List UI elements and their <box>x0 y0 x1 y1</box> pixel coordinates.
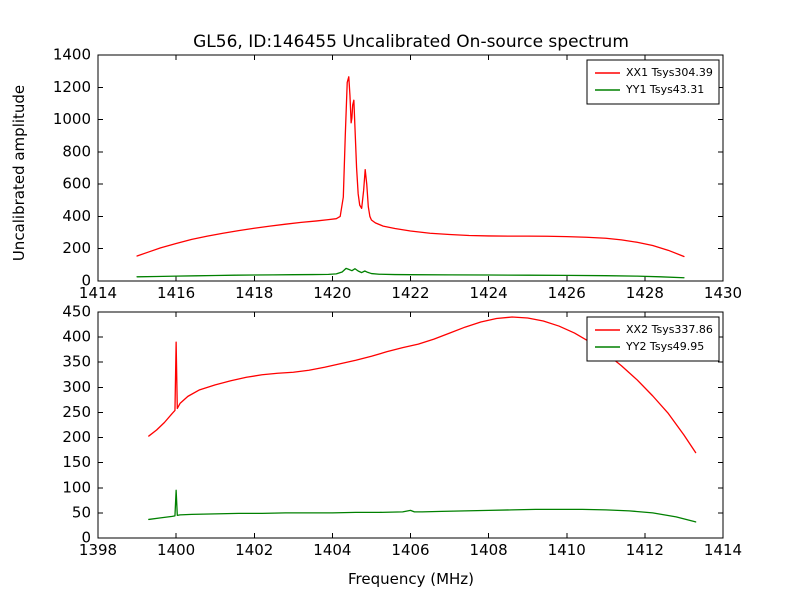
y-tick-label: 100 <box>62 478 91 496</box>
y-tick-label: 400 <box>62 328 91 346</box>
y-tick-label: 1400 <box>53 46 91 64</box>
y-tick-label: 300 <box>62 378 91 396</box>
y-tick-label: 800 <box>62 142 91 160</box>
legend: XX2 Tsys337.86YY2 Tsys49.95 <box>587 317 719 361</box>
y-tick-label: 150 <box>62 453 91 471</box>
x-tick-label: 1430 <box>704 284 742 302</box>
y-tick-label: 0 <box>81 272 91 290</box>
legend-label: XX1 Tsys304.39 <box>626 66 713 79</box>
plot-canvas: GL56, ID:146455 Uncalibrated On-source s… <box>0 0 800 600</box>
x-axis-title: Frequency (MHz) <box>348 570 474 588</box>
x-tick-label: 1404 <box>313 541 351 559</box>
legend-label: XX2 Tsys337.86 <box>626 323 713 336</box>
x-tick-label: 1400 <box>157 541 195 559</box>
x-tick-label: 1406 <box>391 541 429 559</box>
y-tick-label: 250 <box>62 403 91 421</box>
x-tick-label: 1412 <box>626 541 664 559</box>
legend: XX1 Tsys304.39YY1 Tsys43.31 <box>587 60 719 104</box>
y-tick-label: 1000 <box>53 110 91 128</box>
x-tick-label: 1402 <box>235 541 273 559</box>
y-tick-label: 200 <box>62 239 91 257</box>
x-tick-label: 1426 <box>548 284 586 302</box>
y-tick-label: 450 <box>62 303 91 321</box>
legend-label: YY2 Tsys49.95 <box>625 340 704 353</box>
y-tick-label: 600 <box>62 175 91 193</box>
y-tick-label: 350 <box>62 353 91 371</box>
page-title: GL56, ID:146455 Uncalibrated On-source s… <box>193 32 629 52</box>
x-tick-label: 1418 <box>235 284 273 302</box>
x-tick-label: 1408 <box>470 541 508 559</box>
x-tick-label: 1416 <box>157 284 195 302</box>
spectrum-figure: GL56, ID:146455 Uncalibrated On-source s… <box>0 0 800 600</box>
x-tick-label: 1424 <box>470 284 508 302</box>
x-tick-label: 1428 <box>626 284 664 302</box>
y-tick-label: 400 <box>62 207 91 225</box>
y-tick-label: 50 <box>72 503 91 521</box>
y-tick-label: 0 <box>81 529 91 547</box>
x-tick-label: 1420 <box>313 284 351 302</box>
x-tick-label: 1422 <box>391 284 429 302</box>
x-tick-label: 1414 <box>704 541 742 559</box>
x-tick-label: 1410 <box>548 541 586 559</box>
legend-label: YY1 Tsys43.31 <box>625 83 704 96</box>
y-tick-label: 1200 <box>53 78 91 96</box>
y-axis-title: Uncalibrated amplitude <box>10 85 28 261</box>
y-tick-label: 200 <box>62 428 91 446</box>
